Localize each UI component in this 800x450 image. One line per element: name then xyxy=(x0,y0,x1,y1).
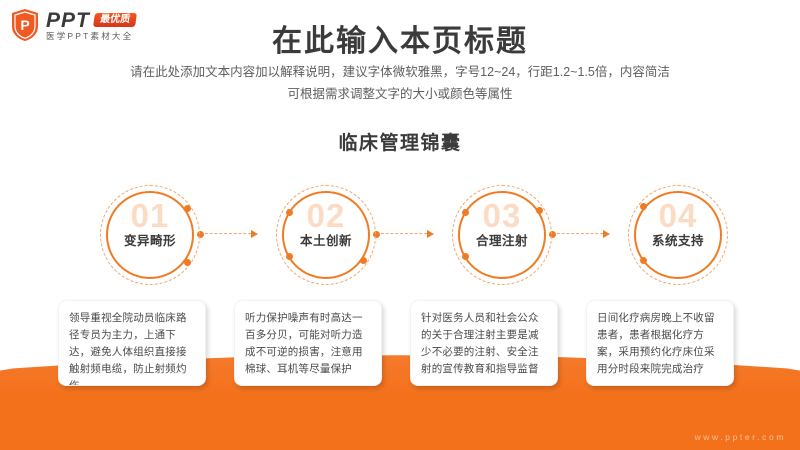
info-card-text: 针对医务人员和社会公众的关于合理注射主要是减少不必要的注射、安全注射的宣传教育和… xyxy=(421,312,539,375)
section-title: 临床管理锦囊 xyxy=(0,128,800,155)
steps-row: 01 变异畸形 02 本土创新 03 合理注射 xyxy=(0,185,800,285)
info-card[interactable]: 针对医务人员和社会公众的关于合理注射主要是减少不必要的注射、安全注射的宣传教育和… xyxy=(410,300,558,386)
step-label: 系统支持 xyxy=(628,230,728,249)
step-label: 合理注射 xyxy=(452,230,552,249)
step-number: 02 xyxy=(276,199,376,232)
info-card-text: 听力保护噪声有时高达一百多分贝，可能对听力造成不可逆的损害，注意用棉球、耳机等尽… xyxy=(245,312,363,375)
step-number: 03 xyxy=(452,199,552,232)
step-label: 本土创新 xyxy=(276,230,376,249)
step-node-1[interactable]: 01 变异畸形 xyxy=(100,185,200,285)
connector-1-2 xyxy=(200,233,256,234)
bead-dot xyxy=(286,253,293,260)
info-card-text: 日间化疗病房晚上不收留患者，患者根据化疗方案，采用预约化疗床位采用分时段来院完成… xyxy=(597,312,715,375)
page-subtitle-line-1: 请在此处添加文本内容加以解释说明，建议字体微软雅黑，字号12~24，行距1.2~… xyxy=(60,62,740,84)
arrow-icon xyxy=(251,230,258,238)
info-card[interactable]: 日间化疗病房晚上不收留患者，患者根据化疗方案，采用预约化疗床位采用分时段来院完成… xyxy=(586,300,734,386)
page-subtitle: 请在此处添加文本内容加以解释说明，建议字体微软雅黑，字号12~24，行距1.2~… xyxy=(60,62,740,106)
footer-url: www.ppter.com xyxy=(695,432,786,442)
info-card[interactable]: 领导重视全院动员临床路径专员为主力，上通下达，避免人体组织直接接触射频电缆，防止… xyxy=(58,300,206,386)
arrow-icon xyxy=(427,230,434,238)
page-title: 在此输入本页标题 xyxy=(0,16,800,60)
bead-dot xyxy=(640,257,647,264)
cards-row: 领导重视全院动员临床路径专员为主力，上通下达，避免人体组织直接接触射频电缆，防止… xyxy=(0,300,800,390)
arrow-icon xyxy=(603,230,610,238)
step-node-3[interactable]: 03 合理注射 xyxy=(452,185,552,285)
step-number: 04 xyxy=(628,199,728,232)
page-subtitle-line-2: 可根据需求调整文字的大小或颜色等属性 xyxy=(60,84,740,106)
bead-dot xyxy=(462,253,469,260)
step-number: 01 xyxy=(100,199,200,232)
step-node-4[interactable]: 04 系统支持 xyxy=(628,185,728,285)
slide-canvas: P PPT 最优质 医学PPT素材大全 在此输入本页标题 请在此处添加文本内容加… xyxy=(0,0,800,450)
step-node-2[interactable]: 02 本土创新 xyxy=(276,185,376,285)
step-label: 变异畸形 xyxy=(100,230,200,249)
connector-2-3 xyxy=(376,233,432,234)
info-card[interactable]: 听力保护噪声有时高达一百多分贝，可能对听力造成不可逆的损害，注意用棉球、耳机等尽… xyxy=(234,300,382,386)
info-card-text: 领导重视全院动员临床路径专员为主力，上通下达，避免人体组织直接接触射频电缆，防止… xyxy=(69,312,187,386)
connector-3-4 xyxy=(552,233,608,234)
bead-dot xyxy=(184,259,191,266)
bead-dot xyxy=(360,257,367,264)
